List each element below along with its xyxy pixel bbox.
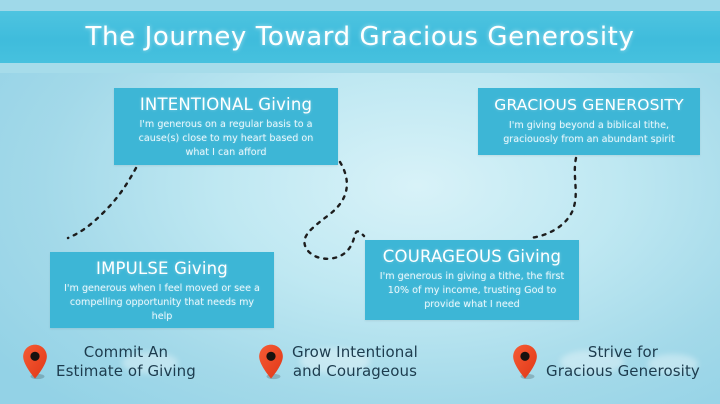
callout-grow-intentional[interactable]: Grow Intentional and Courageous <box>258 343 418 381</box>
map-pin-icon <box>22 344 48 380</box>
background-strip-top <box>0 0 720 11</box>
callout-line-1: Grow Intentional <box>292 343 418 361</box>
page-title: The Journey Toward Gracious Generosity <box>0 11 720 63</box>
callout-label: Strive for Gracious Generosity <box>546 343 700 381</box>
map-pin-icon <box>258 344 284 380</box>
stage-card-courageous[interactable]: COURAGEOUS Giving I'm generous in giving… <box>365 240 579 320</box>
callout-commit-an-estimate[interactable]: Commit An Estimate of Giving <box>22 343 196 381</box>
stage-title: INTENTIONAL Giving <box>114 94 338 116</box>
stage-description: I'm giving beyond a biblical tithe, grac… <box>478 116 700 147</box>
slide-canvas: The Journey Toward Gracious Generosity I… <box>0 0 720 404</box>
stage-description: I'm generous on a regular basis to a cau… <box>114 116 338 160</box>
callout-line-1: Strive for <box>588 343 658 361</box>
callout-line-2: Gracious Generosity <box>546 362 700 380</box>
stage-title: COURAGEOUS Giving <box>365 246 579 268</box>
callout-line-1: Commit An <box>84 343 168 361</box>
stage-description: I'm generous when I feel moved or see a … <box>50 280 274 324</box>
stage-title: IMPULSE Giving <box>50 258 274 280</box>
stage-card-impulse[interactable]: IMPULSE Giving I'm generous when I feel … <box>50 252 274 328</box>
stage-title: GRACIOUS GENEROSITY <box>478 94 700 116</box>
map-pin-icon <box>512 344 538 380</box>
stage-card-gracious-generosity[interactable]: GRACIOUS GENEROSITY I'm giving beyond a … <box>478 88 700 155</box>
callout-line-2: and Courageous <box>293 362 417 380</box>
callout-strive-for-gracious-generosity[interactable]: Strive for Gracious Generosity <box>512 343 700 381</box>
callout-label: Grow Intentional and Courageous <box>292 343 418 381</box>
callout-line-2: Estimate of Giving <box>56 362 196 380</box>
stage-card-intentional[interactable]: INTENTIONAL Giving I'm generous on a reg… <box>114 88 338 165</box>
stage-description: I'm generous in giving a tithe, the firs… <box>365 268 579 312</box>
background-strip-under-header <box>0 63 720 73</box>
callout-label: Commit An Estimate of Giving <box>56 343 196 381</box>
